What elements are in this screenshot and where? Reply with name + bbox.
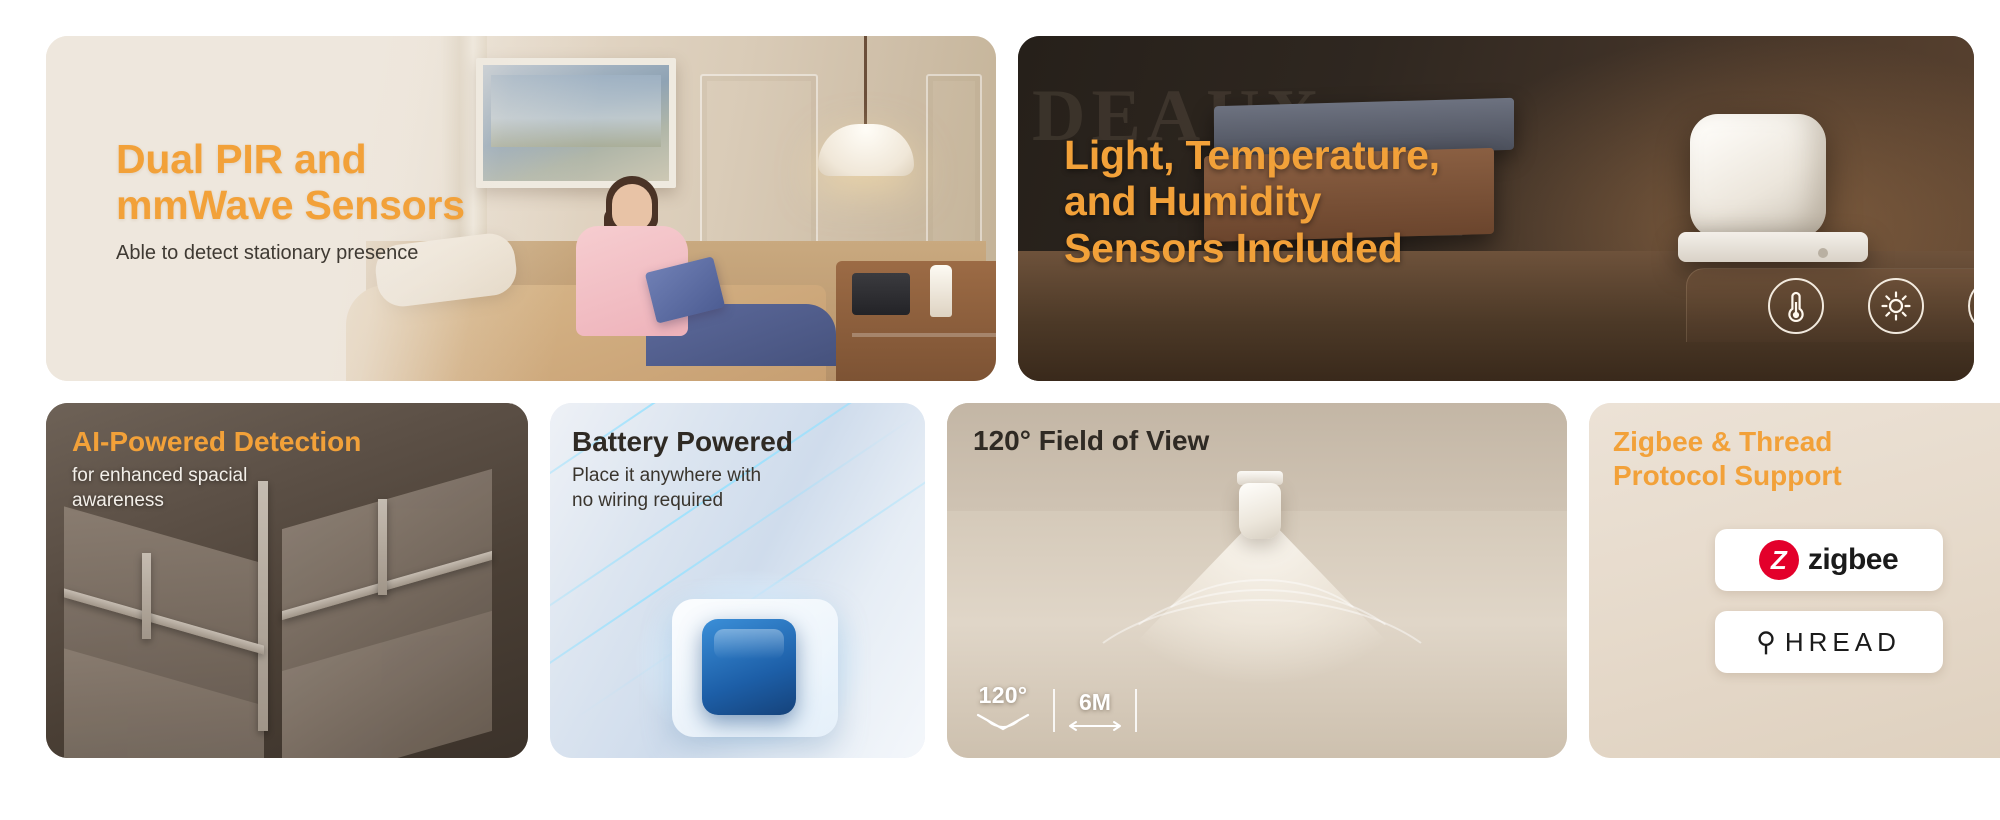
card-ai-subtitle-line1: for enhanced spacial: [72, 463, 502, 488]
card-battery-subtitle: Place it anywhere with no wiring require…: [572, 463, 902, 513]
card-zigbee-heading-line2: Protocol Support: [1613, 459, 2000, 493]
desk-lamp-head: [1690, 114, 1826, 238]
card-battery-powered[interactable]: Battery Powered Place it anywhere with n…: [550, 403, 925, 758]
thermometer-icon: [1768, 278, 1824, 334]
desk-lamp-base: [1678, 232, 1868, 262]
ceiling-sensor: [1239, 483, 1281, 539]
card-zigbee-thread[interactable]: Zigbee & Thread Protocol Support Z zigbe…: [1589, 403, 2000, 758]
card-ai-subtitle: for enhanced spacial awareness: [72, 463, 502, 513]
card-dual-pir-mmwave[interactable]: Dual PIR and mmWave Sensors Able to dete…: [46, 36, 996, 381]
card-pir-text-block: Dual PIR and mmWave Sensors Able to dete…: [116, 136, 465, 266]
sun-icon: [1868, 278, 1924, 334]
card-lth-text-block: Light, Temperature, and Humidity Sensors…: [1064, 132, 1440, 271]
card-ai-subtitle-line2: awareness: [72, 488, 502, 513]
card-zigbee-heading: Zigbee & Thread Protocol Support: [1613, 425, 2000, 492]
card-zigbee-heading-line1: Zigbee & Thread: [1613, 425, 2000, 459]
card-battery-subtitle-line2: no wiring required: [572, 488, 902, 513]
fov-measurements: 120° 6M: [975, 682, 1137, 732]
card-zigbee-text-block: Zigbee & Thread Protocol Support: [1613, 425, 2000, 492]
card-battery-heading: Battery Powered: [572, 425, 902, 458]
card-battery-text-block: Battery Powered Place it anywhere with n…: [572, 425, 902, 513]
card-light-temp-humidity[interactable]: DEAUX AL EREAL: [1018, 36, 1974, 381]
desk-lamp-button: [1818, 248, 1828, 258]
thread-wordmark: HREAD: [1785, 627, 1901, 658]
feature-row-top: Dual PIR and mmWave Sensors Able to dete…: [46, 36, 1954, 381]
card-ai-powered-detection[interactable]: AI AI-Powered Detection for enhanced spa…: [46, 403, 528, 758]
fov-angle-label: 120°: [979, 682, 1028, 709]
card-battery-subtitle-line1: Place it anywhere with: [572, 463, 902, 488]
zigbee-mark-icon: Z: [1759, 540, 1799, 580]
card-pir-heading: Dual PIR and mmWave Sensors: [116, 136, 465, 229]
card-fov-heading: 120° Field of View: [973, 425, 1209, 457]
zigbee-logo[interactable]: Z zigbee: [1715, 529, 1943, 591]
sensor-battery-core: [702, 619, 796, 715]
sensor-icon-tray: [1686, 268, 1974, 342]
feature-grid: Dual PIR and mmWave Sensors Able to dete…: [0, 0, 2000, 820]
water-drop-icon: [1968, 278, 1974, 334]
card-lth-heading-line3: Sensors Included: [1064, 225, 1440, 271]
thread-logo[interactable]: ⚲ HREAD: [1715, 611, 1943, 673]
card-pir-heading-line1: Dual PIR and: [116, 136, 465, 182]
zigbee-wordmark: zigbee: [1808, 543, 1898, 577]
fov-distance-label: 6M: [1079, 689, 1111, 716]
feature-row-bottom: AI AI-Powered Detection for enhanced spa…: [46, 403, 1954, 758]
fov-distance-group: 6M: [1053, 689, 1137, 732]
card-field-of-view[interactable]: 120° 6M 120° Field of View: [947, 403, 1567, 758]
fov-angle-group: 120°: [975, 682, 1031, 732]
distance-arrow-icon: [1068, 720, 1122, 732]
card-pir-subtitle: Able to detect stationary presence: [116, 240, 465, 266]
card-pir-heading-line2: mmWave Sensors: [116, 182, 465, 228]
card-fov-text-block: 120° Field of View: [973, 425, 1209, 457]
protocol-logo-list: Z zigbee ⚲ HREAD: [1589, 529, 2000, 673]
card-lth-heading-line1: Light, Temperature,: [1064, 132, 1440, 178]
card-ai-heading: AI-Powered Detection: [72, 425, 502, 458]
card-lth-heading: Light, Temperature, and Humidity Sensors…: [1064, 132, 1440, 271]
card-lth-heading-line2: and Humidity: [1064, 178, 1440, 224]
thread-mark-icon: ⚲: [1756, 629, 1776, 656]
card-ai-text-block: AI-Powered Detection for enhanced spacia…: [72, 425, 502, 513]
angle-arc-icon: [975, 712, 1031, 732]
